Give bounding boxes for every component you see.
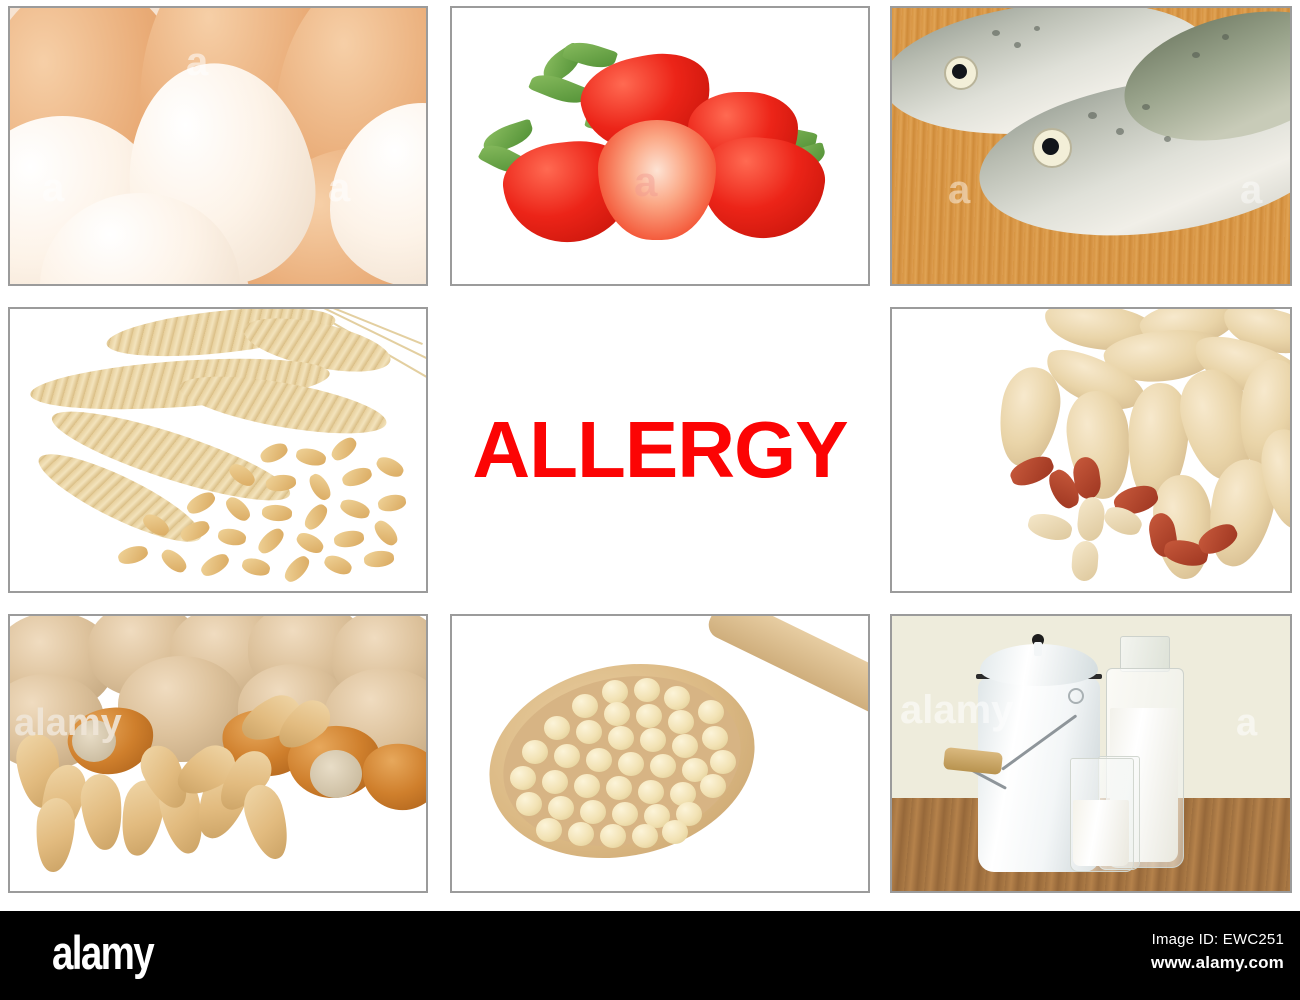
alamy-footer-bar [0,911,1300,1000]
screenshot-root: a a a [0,0,1300,1000]
milk-image: alamy a [892,616,1290,891]
panel-strawberries[interactable]: a [450,6,870,286]
panel-tree-nuts[interactable]: alamy [8,614,428,893]
food-allergy-collage: a a a [0,0,1300,911]
footer-meta: Image ID: EWC251 www.alamy.com [1151,930,1284,976]
alamy-website-link[interactable]: www.alamy.com [1151,950,1284,976]
wheat-image [10,309,426,591]
fish-image: a a [892,8,1290,284]
alamy-logo[interactable]: alamy [52,928,153,977]
allergy-title-cell: ALLERGY [442,307,878,593]
strawberries-image: a [452,8,868,284]
allergy-title-text: ALLERGY [472,410,847,490]
tree-nuts-image: alamy [10,616,426,891]
peanuts-image [892,309,1290,591]
panel-fish[interactable]: a a [890,6,1292,286]
image-id-label: Image ID: EWC251 [1151,930,1284,950]
eggs-image: a a a [10,8,426,284]
panel-soy[interactable] [450,614,870,893]
panel-milk[interactable]: alamy a [890,614,1292,893]
panel-eggs[interactable]: a a a [8,6,428,286]
panel-peanuts[interactable] [890,307,1292,593]
soy-image [452,616,868,891]
panel-wheat[interactable] [8,307,428,593]
